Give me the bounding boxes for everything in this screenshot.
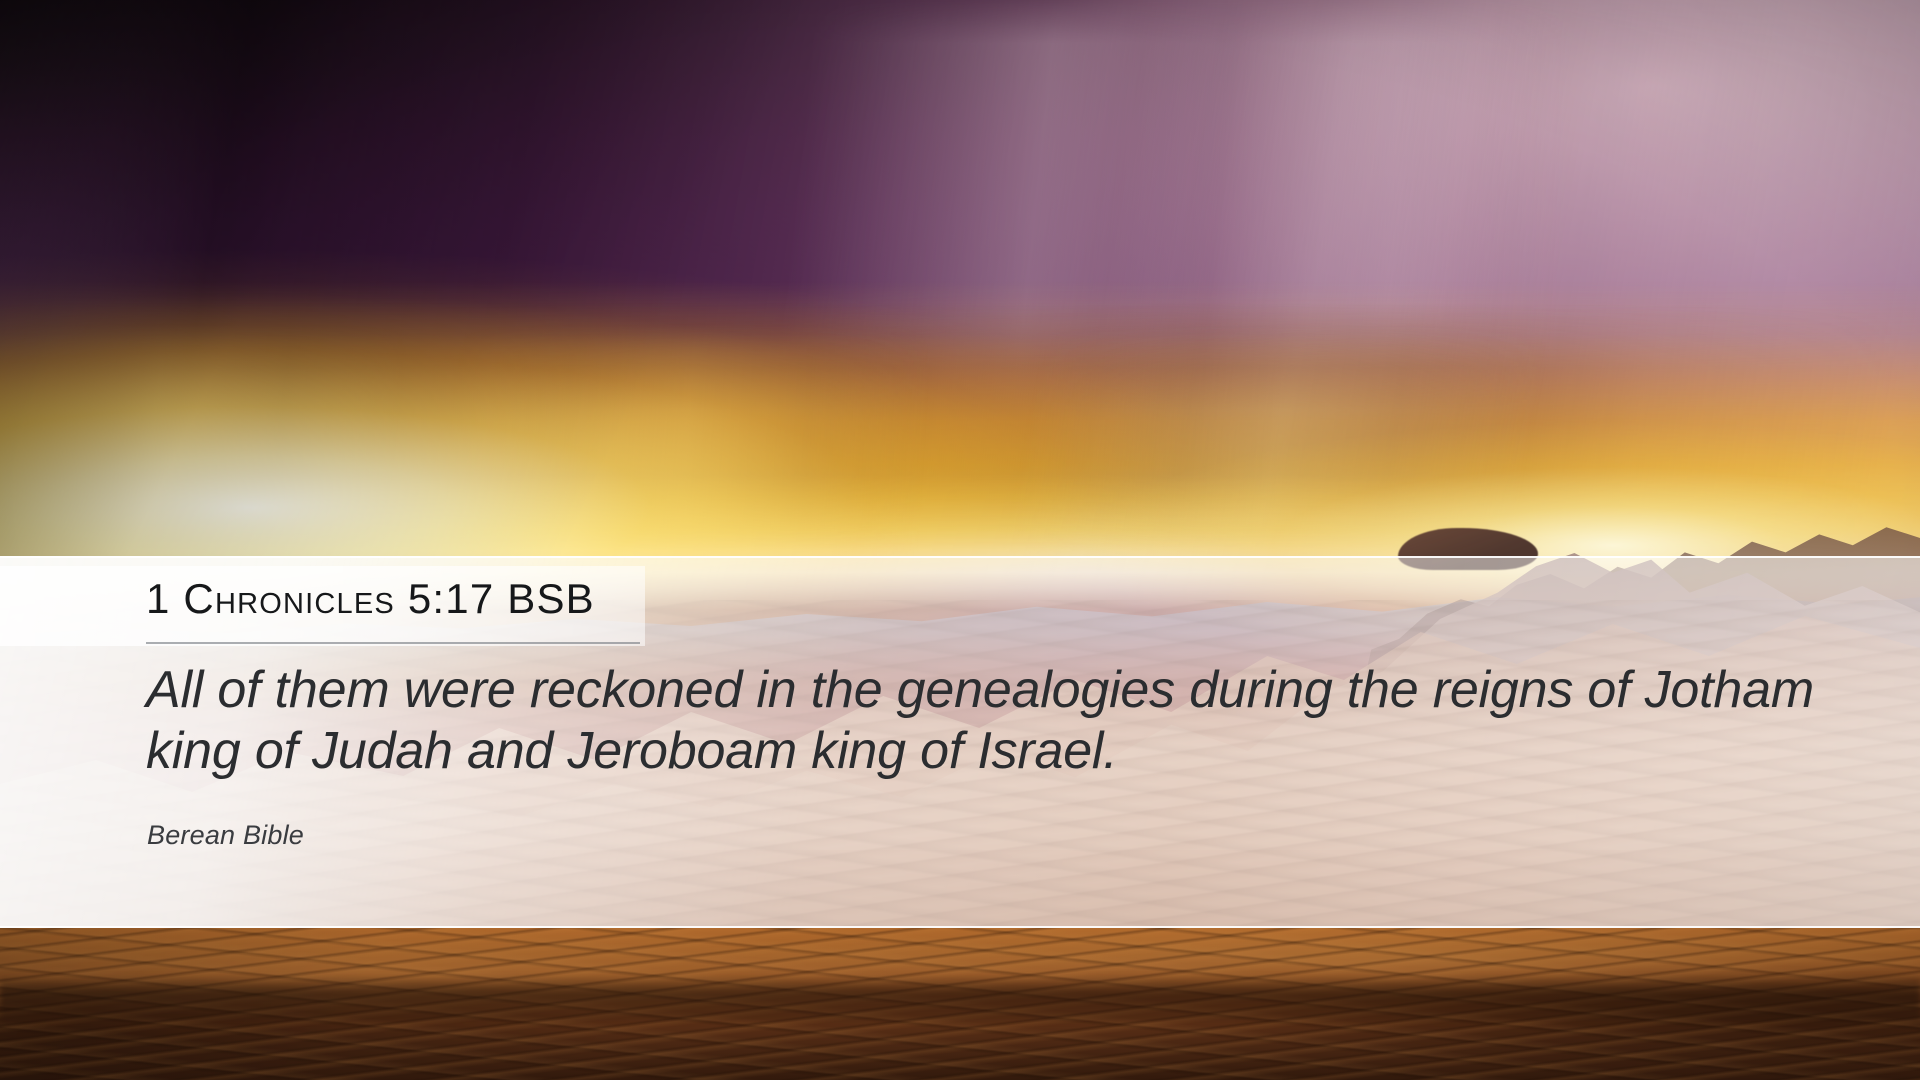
- verse-wallpaper: 1 Chronicles 5:17 BSB All of them were r…: [0, 0, 1920, 1080]
- foreground-shadow-stripe: [0, 975, 1920, 1021]
- verse-reference: 1 Chronicles 5:17 BSB: [146, 578, 595, 620]
- verse-source-attribution: Berean Bible: [147, 820, 304, 851]
- verse-content: 1 Chronicles 5:17 BSB All of them were r…: [0, 556, 1920, 928]
- verse-body-text: All of them were reckoned in the genealo…: [146, 660, 1836, 782]
- reference-underline-rule: [146, 642, 640, 644]
